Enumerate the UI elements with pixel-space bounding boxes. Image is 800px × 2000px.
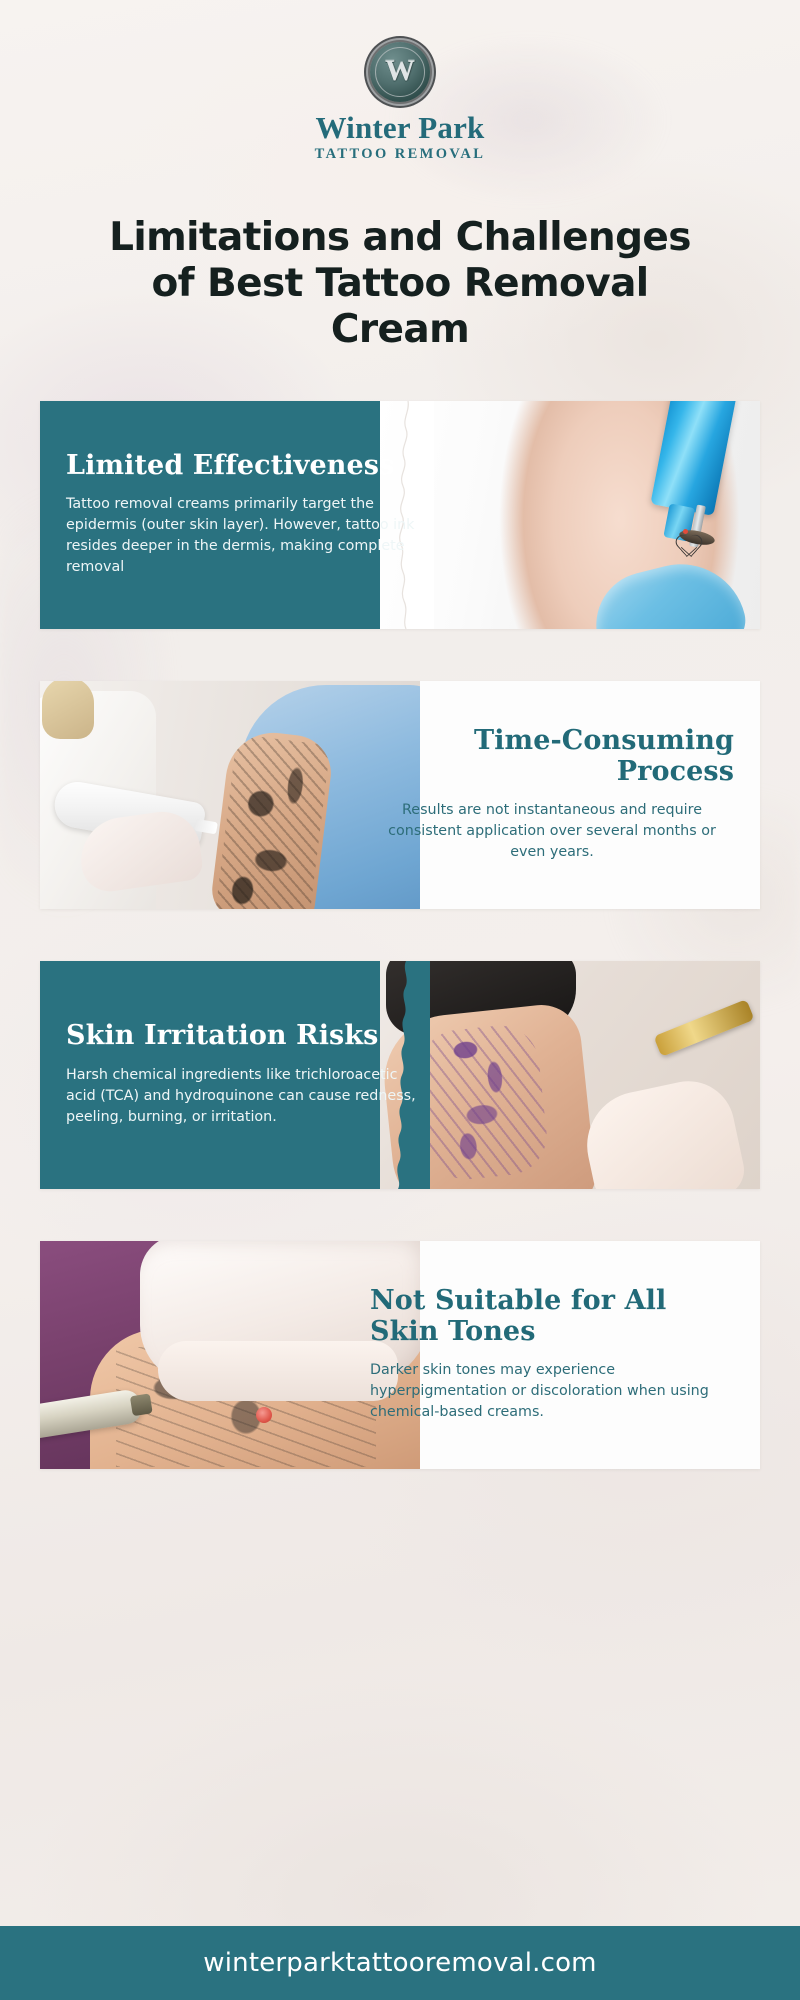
tattoo-machine-icon <box>654 999 755 1057</box>
card-body: Harsh chemical ingredients like trichlor… <box>66 1065 424 1128</box>
winter-park-logo-icon: W <box>370 42 430 102</box>
website-url[interactable]: winterparktattooremoval.com <box>203 1948 596 1978</box>
laser-wand-icon <box>650 401 737 516</box>
tattooed-arm-icon <box>209 727 335 909</box>
card-text-panel: Time-Consuming Process Results are not i… <box>340 681 760 909</box>
footer-bar: winterparktattooremoval.com <box>0 1926 800 2000</box>
card-text-panel: Skin Irritation Risks Harsh chemical ing… <box>40 961 450 1189</box>
card-title: Not Suitable for All Skin Tones <box>370 1286 734 1346</box>
card-body: Results are not instantaneous and requir… <box>370 800 734 863</box>
card-body: Tattoo removal creams primarily target t… <box>66 494 424 578</box>
red-spot-icon <box>256 1407 272 1423</box>
red-dot-icon <box>683 529 688 534</box>
brand-tagline: TATTOO REMOVAL <box>0 146 800 163</box>
blue-glove-icon <box>585 550 751 629</box>
infographic-page: W Winter Park TATTOO REMOVAL Limitations… <box>0 0 800 1469</box>
brand-header: W Winter Park TATTOO REMOVAL <box>0 0 800 163</box>
card-limited-effectiveness: Limited Effectiveness Tattoo removal cre… <box>40 401 760 629</box>
page-title: Limitations and Challenges of Best Tatto… <box>90 215 710 353</box>
gloved-hand-icon <box>577 1072 749 1188</box>
logo-letter: W <box>385 56 415 86</box>
card-time-consuming-process: Time-Consuming Process Results are not i… <box>40 681 760 909</box>
cards-list: Limited Effectiveness Tattoo removal cre… <box>0 401 800 1469</box>
hair-icon <box>42 681 94 739</box>
brand-name: Winter Park <box>0 112 800 145</box>
card-skin-irritation-risks: Skin Irritation Risks Harsh chemical ing… <box>40 961 760 1189</box>
card-not-suitable-for-all-skin-tones: Not Suitable for All Skin Tones Darker s… <box>40 1241 760 1469</box>
card-title: Limited Effectiveness <box>66 451 424 481</box>
card-title: Skin Irritation Risks <box>66 1021 424 1051</box>
heart-tattoo-icon <box>676 532 702 555</box>
card-title: Time-Consuming Process <box>370 726 734 786</box>
card-body: Darker skin tones may experience hyperpi… <box>370 1360 734 1423</box>
card-text-panel: Limited Effectiveness Tattoo removal cre… <box>40 401 450 629</box>
card-text-panel: Not Suitable for All Skin Tones Darker s… <box>340 1241 760 1469</box>
